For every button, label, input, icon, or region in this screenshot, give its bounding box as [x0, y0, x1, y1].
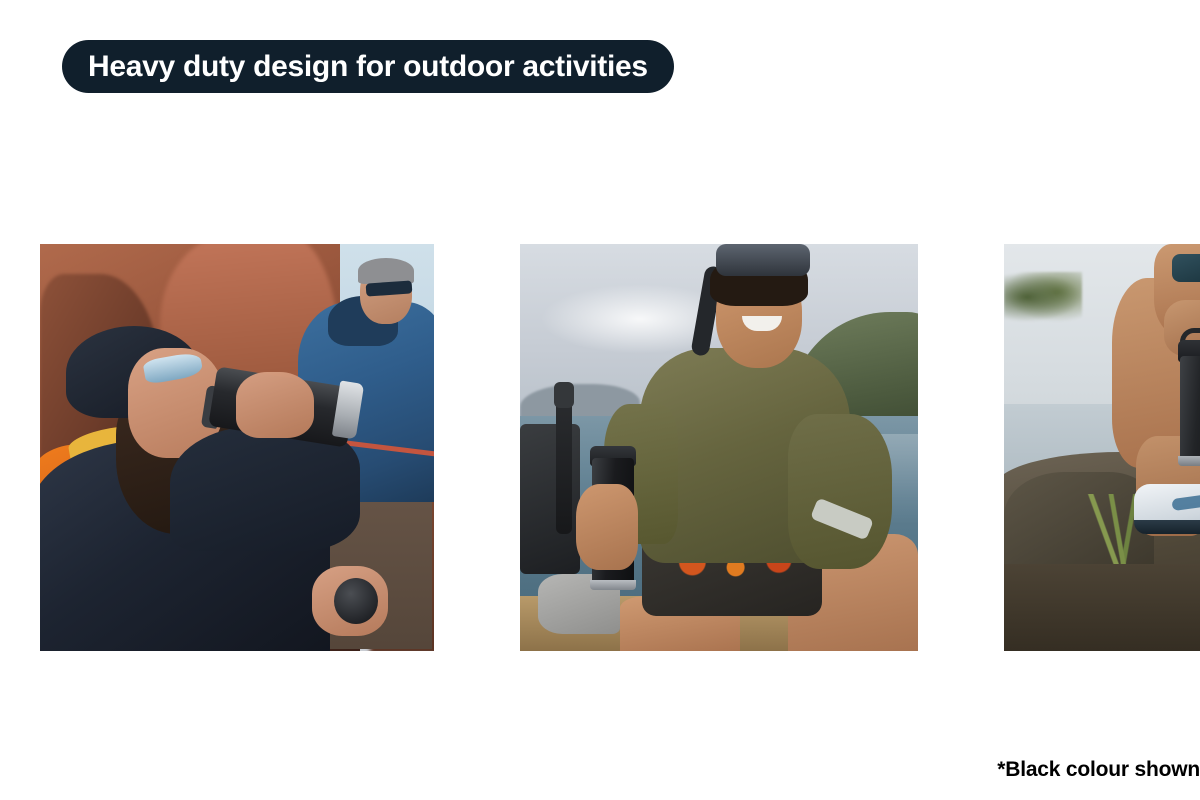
- man-hand-holding-bottle: [576, 484, 638, 570]
- foliage-branch: [1004, 272, 1082, 322]
- woman-hand-holding-bottle: [236, 372, 314, 438]
- bottle-lid: [334, 578, 378, 624]
- bottle-steel-base: [1178, 456, 1200, 466]
- speargun-head: [554, 382, 574, 408]
- image-gallery: [0, 228, 1200, 635]
- running-shoe-raised-sole: [1134, 520, 1200, 534]
- sports-watch: [1172, 254, 1200, 282]
- man-right-sleeve: [788, 414, 892, 569]
- bottle-steel-base: [590, 580, 636, 590]
- dirt-trail: [1004, 564, 1200, 651]
- black-insulated-bottle: [1180, 356, 1200, 466]
- headline-text: Heavy duty design for outdoor activities: [88, 52, 648, 82]
- gallery-image-coastal-run: [1004, 244, 1200, 651]
- colour-footnote: *Black colour shown: [997, 758, 1200, 782]
- gallery-image-boat-snorkeler: [520, 244, 918, 651]
- headline-pill: Heavy duty design for outdoor activities: [62, 40, 674, 93]
- dive-mask: [716, 244, 810, 276]
- gallery-image-canyon-drinking: [40, 244, 434, 651]
